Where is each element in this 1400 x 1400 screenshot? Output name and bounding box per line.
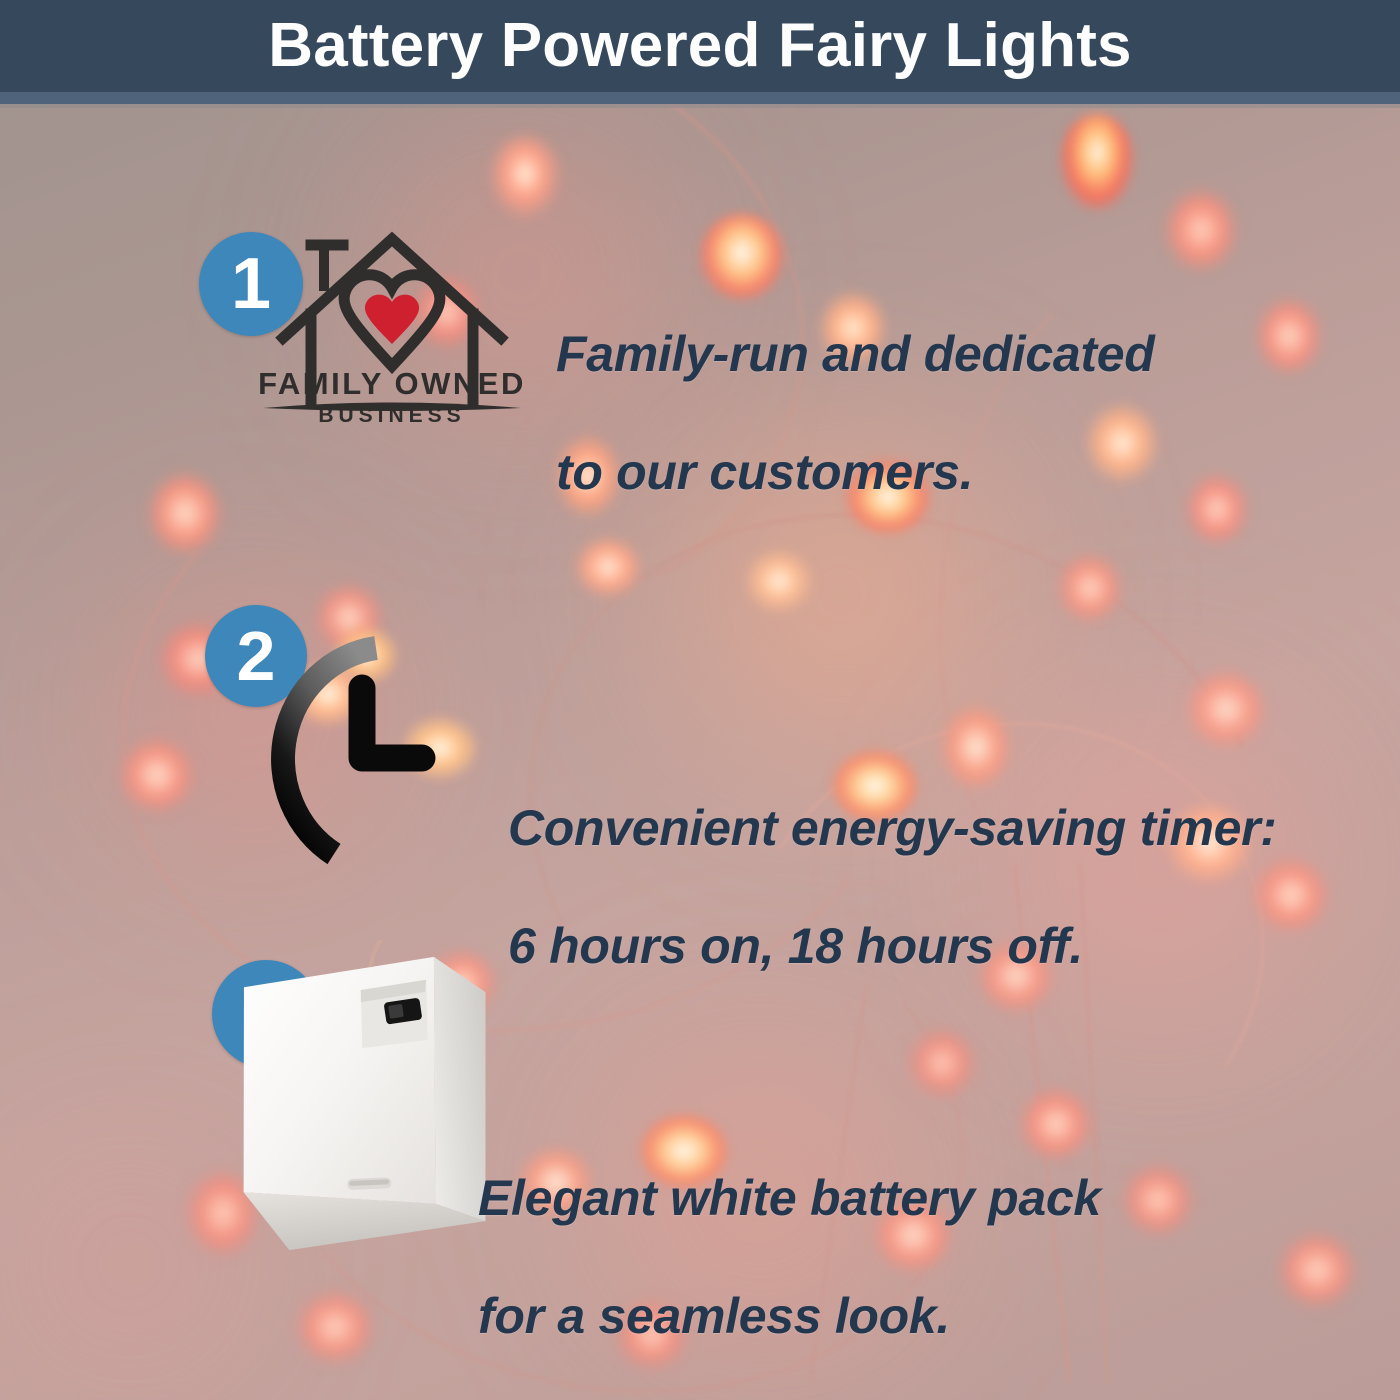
- page-title: Battery Powered Fairy Lights: [268, 15, 1132, 77]
- family-owned-house-heart-icon: FAMILY OWNED BUSINESS: [247, 218, 537, 418]
- feature-text-1-line1: Family-run and dedicated: [556, 325, 1276, 384]
- feature-text-3: Elegant white battery pack for a seamles…: [478, 1110, 1238, 1400]
- feature-text-2-line2: 6 hours on, 18 hours off.: [508, 917, 1348, 976]
- clock-hands: [362, 688, 422, 758]
- product-infographic: Battery Powered Fairy Lights: [0, 0, 1400, 1400]
- feature-text-1-line2: to our customers.: [556, 443, 1276, 502]
- features-list: 1: [0, 104, 1400, 1400]
- feature-text-2-line1: Convenient energy-saving timer:: [508, 799, 1348, 858]
- feature-text-1: Family-run and dedicated to our customer…: [556, 266, 1276, 561]
- heart-icon: [365, 295, 419, 344]
- logo-text-secondary: BUSINESS: [247, 404, 537, 428]
- timer-clock-icon: [256, 636, 496, 884]
- header-bar: Battery Powered Fairy Lights: [0, 0, 1400, 92]
- power-switch-nub: [388, 1004, 404, 1019]
- feature-text-2: Convenient energy-saving timer: 6 hours …: [508, 740, 1348, 1035]
- header-divider: [0, 92, 1400, 104]
- header-divider-secondary: [0, 104, 1400, 108]
- feature-text-3-line1: Elegant white battery pack: [478, 1169, 1238, 1228]
- battery-lead-wire: [367, 928, 395, 967]
- timer-clock-svg: [256, 636, 496, 884]
- logo-text-primary: FAMILY OWNED: [247, 366, 537, 402]
- feature-text-3-line2: for a seamless look.: [478, 1287, 1238, 1346]
